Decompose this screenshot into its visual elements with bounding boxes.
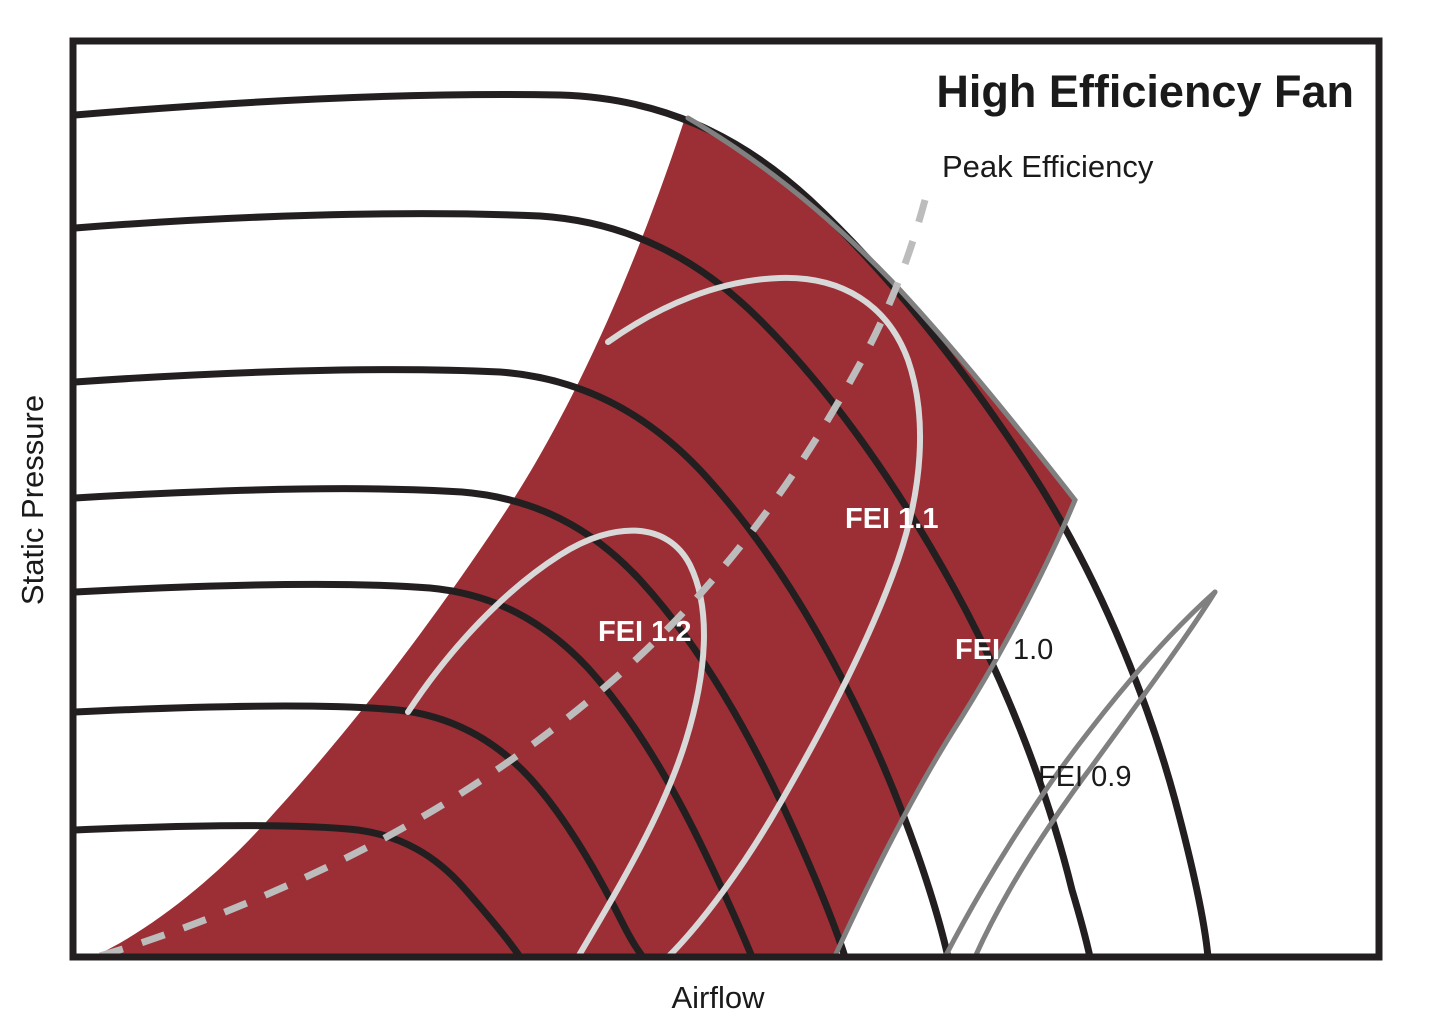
x-axis-label: Airflow [671, 980, 765, 1015]
page-title: High Efficiency Fan [936, 66, 1354, 117]
fan-performance-figure: High Efficiency Fan Peak Efficiency FEI … [0, 0, 1440, 1035]
fei-1-1-label: FEI 1.1 [845, 503, 939, 535]
fei-0-9-label: FEI 0.9 [1038, 761, 1132, 793]
y-axis-label: Static Pressure [15, 395, 50, 605]
fan-curve-chart: High Efficiency Fan Peak Efficiency FEI … [0, 0, 1440, 1035]
peak-efficiency-label: Peak Efficiency [942, 149, 1154, 184]
fei-1-0-label-dark: 1.0 [1013, 634, 1053, 666]
fei-1-0-label-white: FEI [955, 634, 1000, 666]
fei-1-2-label: FEI 1.2 [598, 616, 692, 648]
